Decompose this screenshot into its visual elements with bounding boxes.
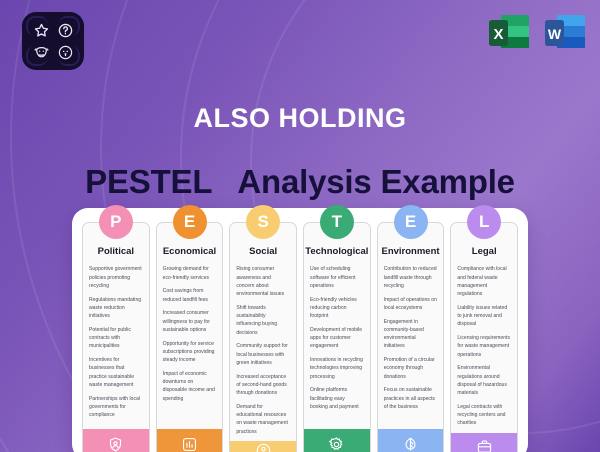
pestel-column-environment[interactable]: EEnvironmentContribution to reduced land… <box>377 222 445 452</box>
pestel-columns: PPoliticalSupportive government policies… <box>82 222 518 452</box>
bullet-item: Innovations in recycling technologies im… <box>310 356 364 381</box>
bullet-item: Legal contracts with recycling centers a… <box>457 403 511 428</box>
svg-text:W: W <box>548 26 562 42</box>
column-badge-e-1: E <box>173 205 207 239</box>
bullet-item: Demand for educational resources on wast… <box>236 403 290 436</box>
bullet-item: Eco-friendly vehicles reducing carbon fo… <box>310 296 364 321</box>
bullet-item: Community support for local businesses w… <box>236 342 290 367</box>
column-title: Legal <box>472 247 497 257</box>
bullet-item: Licensing requirements for waste managem… <box>457 334 511 359</box>
page-title-lead: PESTEL <box>85 163 212 200</box>
column-bullet-list: Supportive government policies promoting… <box>83 265 149 425</box>
bullet-item: Regulations mandating waste reduction in… <box>89 296 143 321</box>
bullet-item: Environmental regulations around disposa… <box>457 364 511 397</box>
column-bullet-list: Contribution to reduced landfill waste t… <box>378 265 444 416</box>
dog-icon <box>54 42 76 62</box>
column-badge-p-0: P <box>99 205 133 239</box>
column-bullet-list: Use of scheduling software for efficient… <box>304 265 370 416</box>
star-icon <box>30 20 52 40</box>
bullet-item: Development of mobile apps for customer … <box>310 326 364 351</box>
pestel-column-technological[interactable]: TTechnologicalUse of scheduling software… <box>303 222 371 452</box>
person-shield-icon <box>83 429 149 452</box>
question-mark-icon <box>54 20 76 40</box>
bullet-item: Potential for public contracts with muni… <box>89 326 143 351</box>
column-title: Economical <box>163 247 216 257</box>
bullet-item: Shift towards sustainability influencing… <box>236 304 290 337</box>
kicker-text: ALSO HOLDING <box>0 103 600 134</box>
also-holding-logo[interactable] <box>22 12 84 70</box>
column-bullet-list: Growing demand for eco-friendly services… <box>157 265 223 408</box>
page-title-rest: Analysis Example <box>237 163 514 200</box>
bullet-item: Opportunity for service subscriptions pr… <box>163 340 217 365</box>
bullet-item: Liability issues related to junk removal… <box>457 304 511 329</box>
bullet-item: Increased acceptance of second-hand good… <box>236 373 290 398</box>
bar-chart-icon <box>157 429 223 452</box>
pestel-column-social[interactable]: SSocialRising consumer awareness and con… <box>229 222 297 452</box>
column-badge-s-2: S <box>246 205 280 239</box>
gear-icon <box>304 429 370 452</box>
svg-text:X: X <box>493 26 503 43</box>
bullet-item: Partnerships with local governments for … <box>89 395 143 420</box>
leaf-icon <box>378 429 444 452</box>
bullet-item: Compliance with local and federal waste … <box>457 265 511 298</box>
cow-icon <box>30 42 52 62</box>
bullet-item: Promotion of a circular economy through … <box>384 356 438 381</box>
column-badge-l-5: L <box>467 205 501 239</box>
bullet-item: Incentives for businesses that practice … <box>89 356 143 389</box>
slide-canvas: X W ALSO HOLDING PESTEL Analysis Example… <box>0 0 600 452</box>
bullet-item: Cost savings from reduced landfill fees <box>163 287 217 304</box>
column-title: Technological <box>305 247 368 257</box>
column-title: Political <box>98 247 134 257</box>
column-title: Social <box>249 247 277 257</box>
bullet-item: Contribution to reduced landfill waste t… <box>384 265 438 290</box>
column-bullet-list: Compliance with local and federal waste … <box>451 265 517 433</box>
bullet-item: Online platforms facilitating easy booki… <box>310 386 364 411</box>
bullet-item: Use of scheduling software for efficient… <box>310 265 364 290</box>
bullet-item: Increased consumer willingness to pay fo… <box>163 309 217 334</box>
column-badge-e-4: E <box>394 205 428 239</box>
bullet-item: Rising consumer awareness and concern ab… <box>236 265 290 298</box>
bullet-item: Growing demand for eco-friendly services <box>163 265 217 282</box>
column-badge-t-3: T <box>320 205 354 239</box>
column-bullet-list: Rising consumer awareness and concern ab… <box>230 265 296 441</box>
excel-icon[interactable]: X <box>487 11 531 55</box>
bullet-item: Engagement in community-based environmen… <box>384 318 438 351</box>
pestel-card: PPoliticalSupportive government policies… <box>72 208 528 452</box>
pestel-column-economical[interactable]: EEconomicalGrowing demand for eco-friend… <box>156 222 224 452</box>
page-title: PESTEL Analysis Example <box>0 163 600 201</box>
column-title: Environment <box>381 247 439 257</box>
bullet-item: Impact of economic downturns on disposab… <box>163 370 217 403</box>
word-icon[interactable]: W <box>543 11 587 55</box>
pestel-column-political[interactable]: PPoliticalSupportive government policies… <box>82 222 150 452</box>
briefcase-icon <box>451 433 517 452</box>
person-icon <box>230 441 296 452</box>
bullet-item: Impact of operations on local ecosystems <box>384 296 438 313</box>
bullet-item: Supportive government policies promoting… <box>89 265 143 290</box>
office-app-icons: X W <box>487 11 587 55</box>
pestel-column-legal[interactable]: LLegalCompliance with local and federal … <box>450 222 518 452</box>
bullet-item: Focus on sustainable practices in all as… <box>384 386 438 411</box>
